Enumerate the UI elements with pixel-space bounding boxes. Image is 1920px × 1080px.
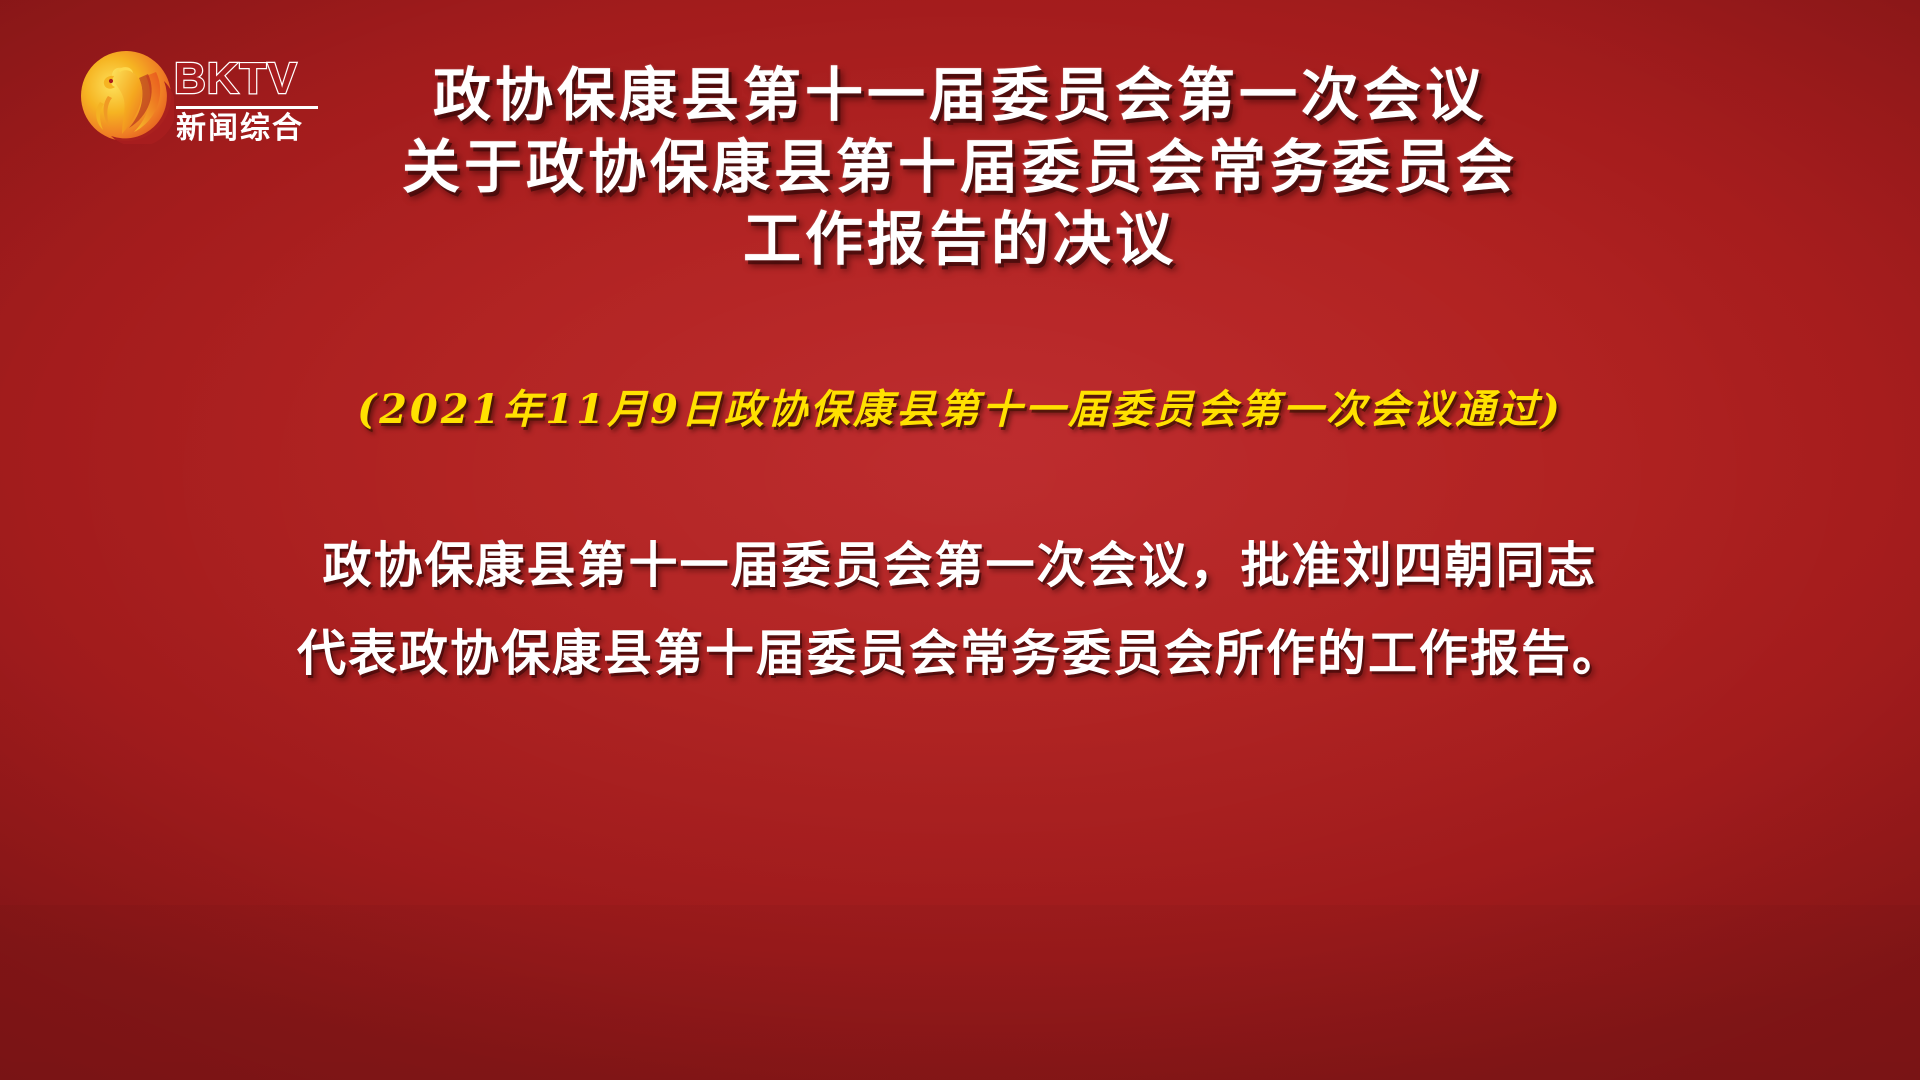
phoenix-icon [78, 48, 174, 144]
lower-band-shade [0, 905, 1920, 1080]
logo-subtitle: 新闻综合 [176, 112, 304, 146]
broadcast-screen: BKTV 新闻综合 政协保康县第十一届委员会第一次会议 关于政协保康县第十届委员… [0, 0, 1920, 1080]
body-line-2: 代表政协保康县第十届委员会常务委员会所作的工作报告。 [120, 610, 1800, 698]
body-text: 政协保康县第十一届委员会第一次会议，批准刘四朝同志 代表政协保康县第十届委员会常… [120, 522, 1800, 698]
bktv-wordmark-text: BKTV [174, 56, 320, 102]
bktv-wordmark: BKTV [174, 56, 320, 106]
bktv-logo: BKTV 新闻综合 [78, 46, 318, 150]
logo-divider [176, 106, 318, 109]
body-line-1: 政协保康县第十一届委员会第一次会议，批准刘四朝同志 [120, 522, 1800, 610]
adoption-date-line: (2021年11月9日政协保康县第十一届委员会第一次会议通过) [0, 382, 1920, 438]
title-line-3: 工作报告的决议 [0, 204, 1920, 276]
